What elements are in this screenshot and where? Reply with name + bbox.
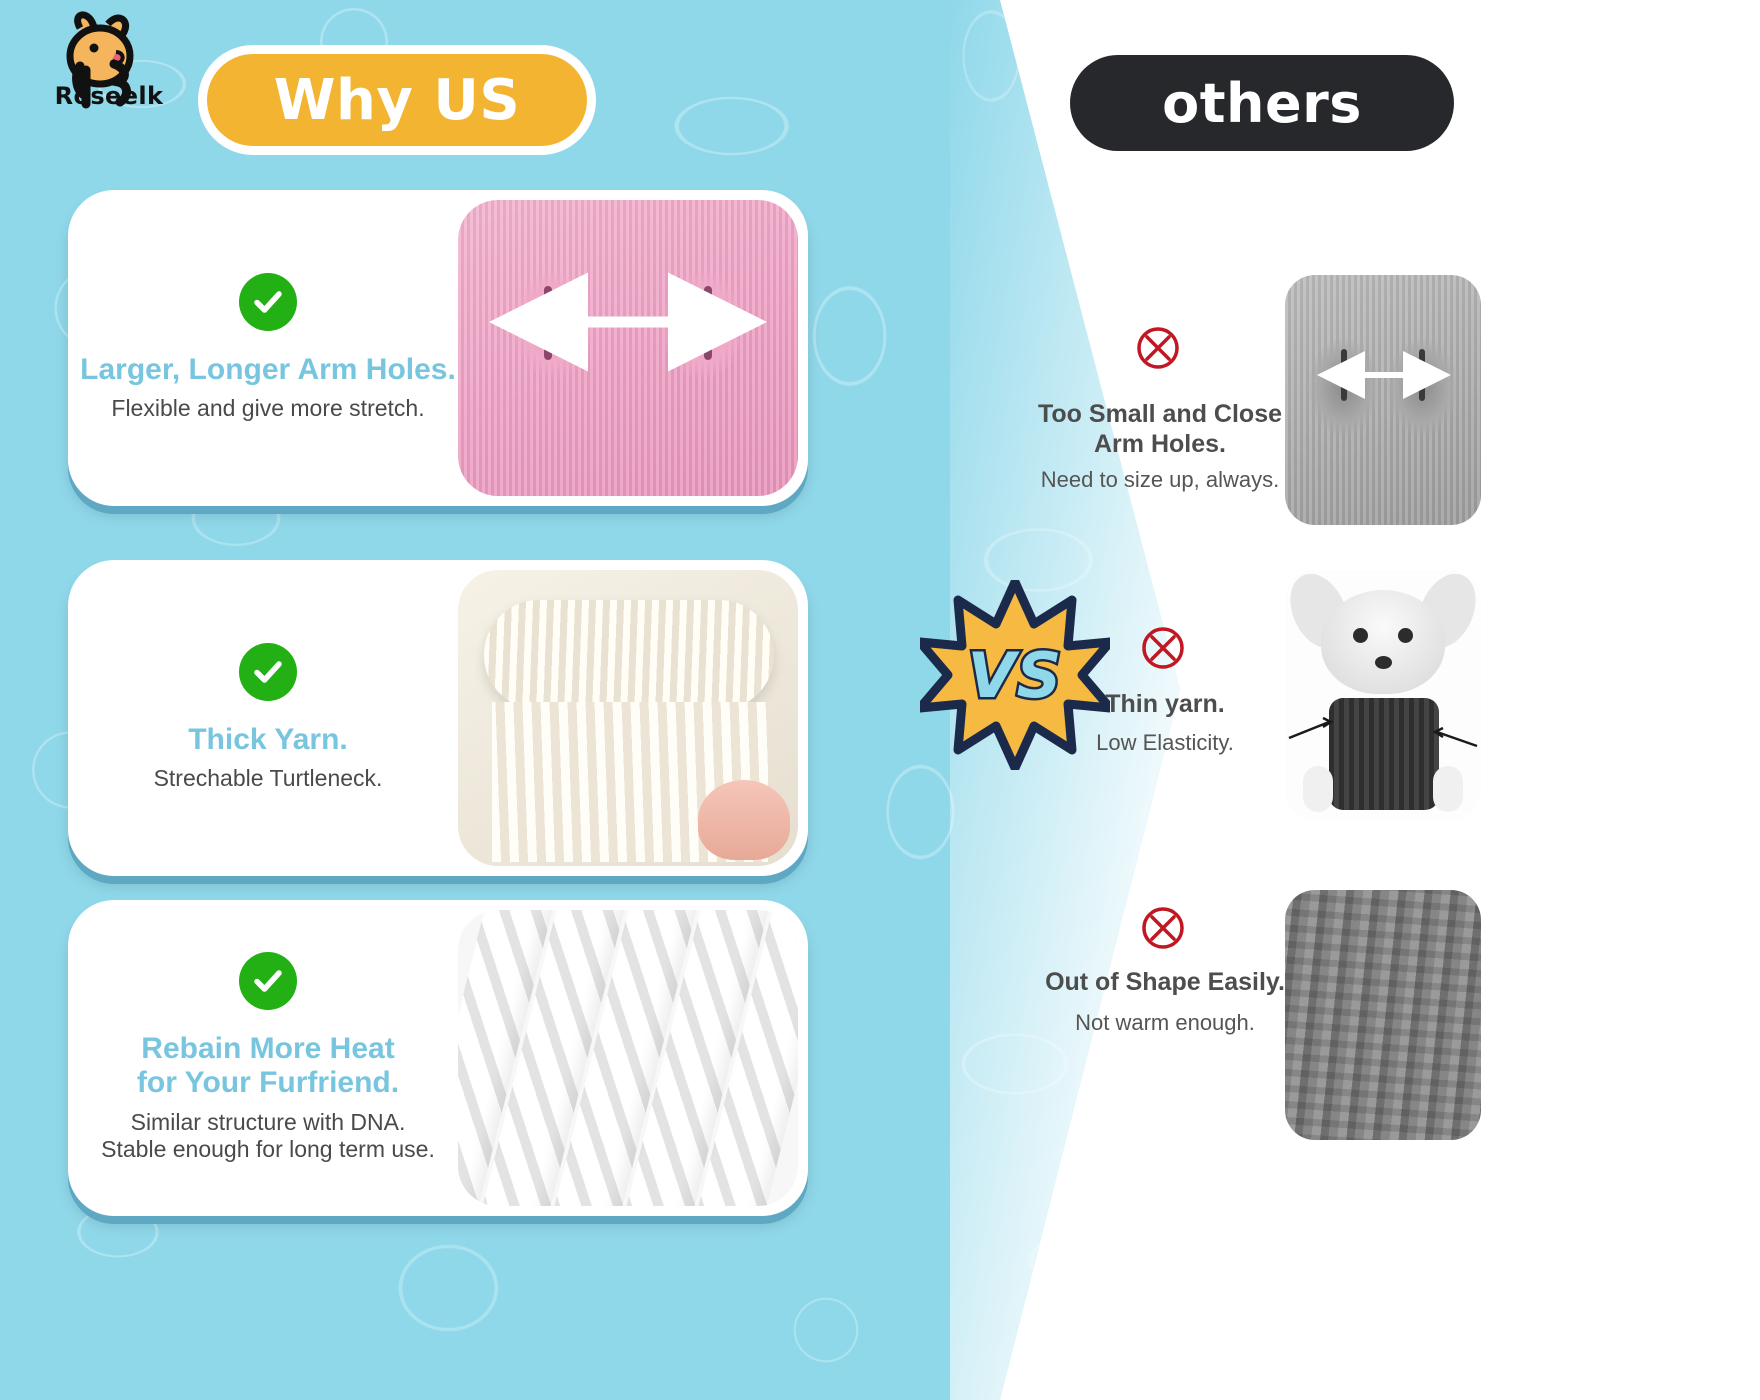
rabbit-logo-icon: [36, 8, 176, 128]
gray-small-armholes-photo: [1285, 275, 1481, 525]
others-label: others: [1162, 72, 1362, 135]
gray-stretched-knit-photo: [1285, 890, 1481, 1140]
feature-title: Thick Yarn.: [188, 723, 348, 757]
feature-subtitle: Similar structure with DNA. Stable enoug…: [101, 1109, 435, 1164]
feature-text-block: Thick Yarn. Strechable Turtleneck.: [68, 560, 468, 876]
turtleneck-roll: [484, 600, 774, 710]
feature-title: Larger, Longer Arm Holes.: [80, 353, 456, 387]
feature-card: Larger, Longer Arm Holes. Flexible and g…: [68, 190, 808, 506]
drawback-subtitle: Not warm enough.: [1020, 1010, 1310, 1036]
cross-circle-icon: [1135, 325, 1181, 371]
feature-text-block: Rebain More Heat for Your Furfriend. Sim…: [68, 900, 468, 1216]
drawback-subtitle: Low Elasticity.: [1035, 730, 1295, 756]
pink-sweater-armholes-photo: [458, 200, 798, 496]
others-badge: others: [1070, 55, 1454, 151]
check-circle-icon: [239, 273, 297, 331]
feature-subtitle: Strechable Turtleneck.: [154, 765, 383, 793]
check-circle-icon: [239, 643, 297, 701]
white-twisted-cords-photo: [458, 910, 798, 1206]
cream-knit-turtleneck-photo: [458, 570, 798, 866]
feature-title: Rebain More Heat for Your Furfriend.: [137, 1032, 399, 1100]
gray-chihuahua-sweater-photo: [1285, 570, 1481, 820]
cross-circle-icon: [1140, 905, 1186, 951]
brand-name: Roseelk: [34, 82, 184, 110]
hand-thumb: [698, 780, 790, 860]
cross-circle-icon: [1140, 625, 1186, 671]
why-us-badge: Why US: [198, 45, 596, 155]
feature-subtitle: Flexible and give more stretch.: [111, 395, 424, 423]
feature-text-block: Larger, Longer Arm Holes. Flexible and g…: [68, 190, 468, 506]
check-circle-icon: [239, 952, 297, 1010]
drawback-title: Thin yarn.: [1035, 690, 1295, 720]
drawback-subtitle: Need to size up, always.: [1000, 467, 1320, 493]
drawback-title: Out of Shape Easily.: [1020, 968, 1310, 998]
feature-card: Rebain More Heat for Your Furfriend. Sim…: [68, 900, 808, 1216]
drawback-title: Too Small and Close Arm Holes.: [1010, 400, 1310, 459]
feature-card: Thick Yarn. Strechable Turtleneck.: [68, 560, 808, 876]
why-us-label: Why US: [274, 68, 520, 133]
